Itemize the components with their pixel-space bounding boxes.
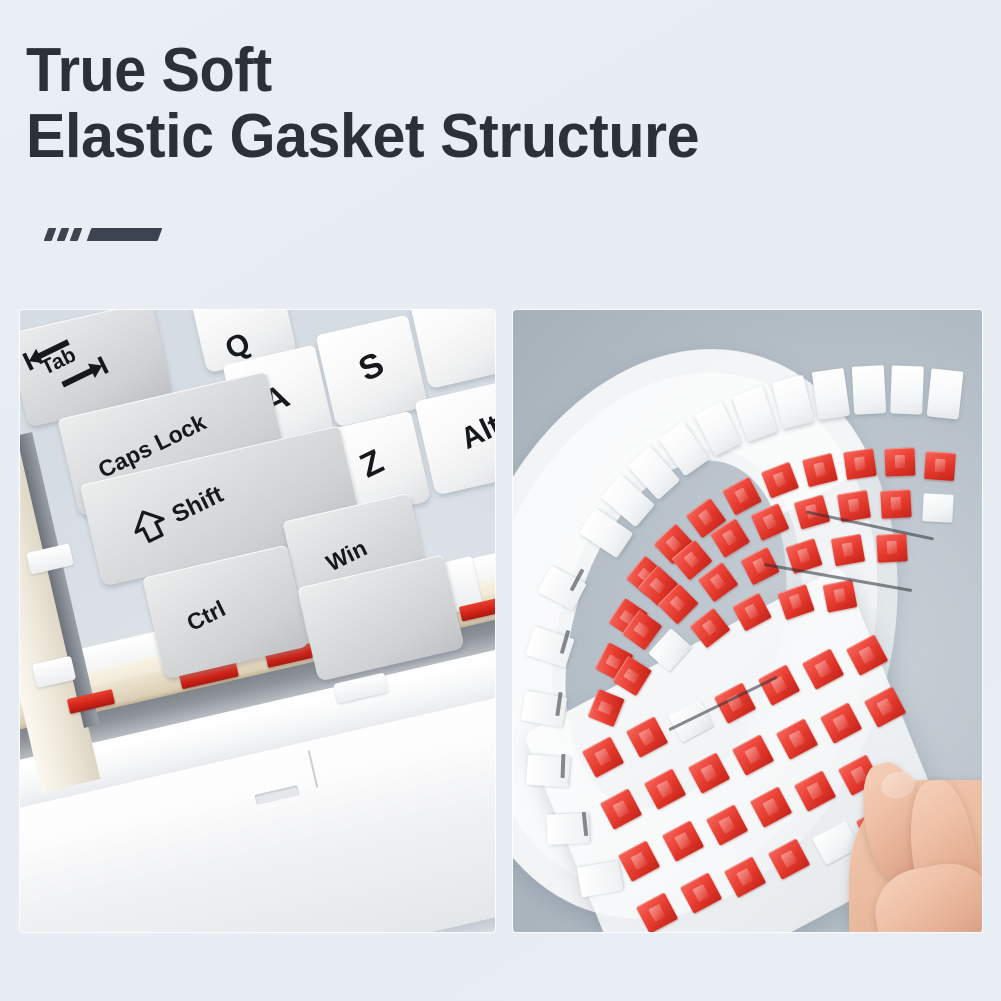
- red-switch: [876, 533, 907, 563]
- red-switch: [885, 447, 916, 476]
- divider-tick-icon: [70, 228, 83, 241]
- flexible-plate-assembly: [513, 310, 982, 932]
- plate-keycap: [890, 365, 924, 414]
- red-switch: [823, 579, 858, 612]
- red-switch: [843, 448, 877, 480]
- page-title: True Soft Elastic Gasket Structure: [26, 38, 946, 170]
- divider-tick-icon: [44, 228, 57, 241]
- stabilizer-white: [922, 493, 953, 523]
- red-switch: [831, 534, 865, 567]
- divider-bar-icon: [87, 228, 163, 241]
- photo-panel-group: Q A S Z Al: [0, 310, 1001, 932]
- plate-keycap: [852, 365, 886, 415]
- red-switch: [924, 451, 956, 481]
- divider-tick-icon: [57, 228, 70, 241]
- plate-keycap: [927, 368, 964, 419]
- decorative-divider: [46, 224, 160, 244]
- flexible-switch-plate-photo: [513, 310, 982, 932]
- product-feature-banner: True Soft Elastic Gasket Structure: [0, 0, 1001, 1001]
- red-switch: [880, 489, 911, 519]
- headline-line-2: Elastic Gasket Structure: [26, 104, 905, 170]
- plate-gap: [561, 754, 566, 778]
- keyboard-gasket-closeup-photo: Q A S Z Al: [20, 310, 495, 932]
- plate-keycap: [812, 368, 850, 420]
- headline-line-1: True Soft: [26, 38, 882, 104]
